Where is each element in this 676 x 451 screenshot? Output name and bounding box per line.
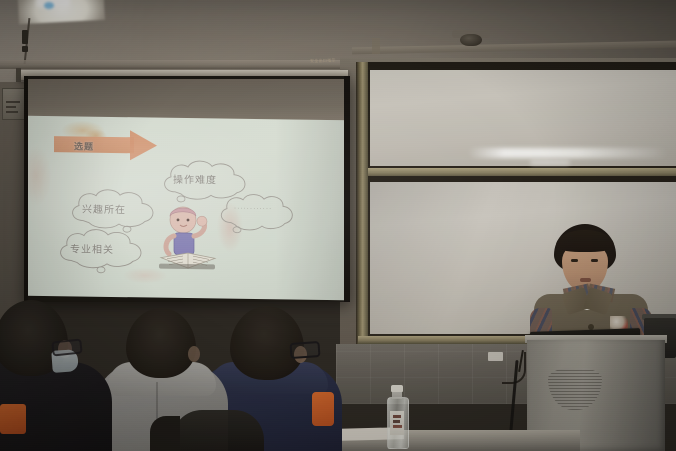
bottle-neck [392, 391, 402, 399]
projected-slide: 选题 操作难度 兴趣所在 专业相关 [27, 116, 345, 300]
slide-vignette [27, 116, 345, 300]
presenter-eye-right [591, 259, 598, 262]
water-bottle [386, 385, 408, 447]
chair-arm [150, 416, 180, 451]
bottle-label [390, 411, 404, 435]
presenter-mouth [580, 278, 591, 282]
light-blue-reflection [44, 2, 54, 9]
ceiling-pipe-clip [372, 38, 380, 54]
audience-right-glasses-icon [289, 341, 320, 359]
audience-left-glasses-icon [51, 338, 82, 356]
ceiling-wire-clip-2 [22, 46, 28, 52]
orange-bag-right [312, 392, 334, 426]
presenter-eye-left [571, 259, 578, 262]
classroom-presentation-photo: 安全出口指示 选题 [0, 0, 676, 451]
orange-bag-left [0, 404, 26, 434]
whiteboard-glare [468, 148, 668, 158]
wall-socket [488, 352, 503, 361]
ceiling-sign-text: 安全出口指示 [310, 58, 336, 65]
bottle-cap [391, 385, 403, 392]
projection-screen-right-edge [344, 76, 350, 302]
projection-screen-left-edge [24, 76, 28, 302]
chair-back [172, 410, 264, 451]
projector-screen-roller-cap [16, 68, 21, 82]
whiteboard-glare-secondary [530, 160, 570, 165]
smoke-detector-icon [460, 34, 482, 46]
ceiling-wire-clip [22, 30, 28, 44]
audience-center-head [126, 308, 196, 378]
audience-center-ear [188, 346, 200, 362]
whiteboard-post [356, 62, 368, 344]
